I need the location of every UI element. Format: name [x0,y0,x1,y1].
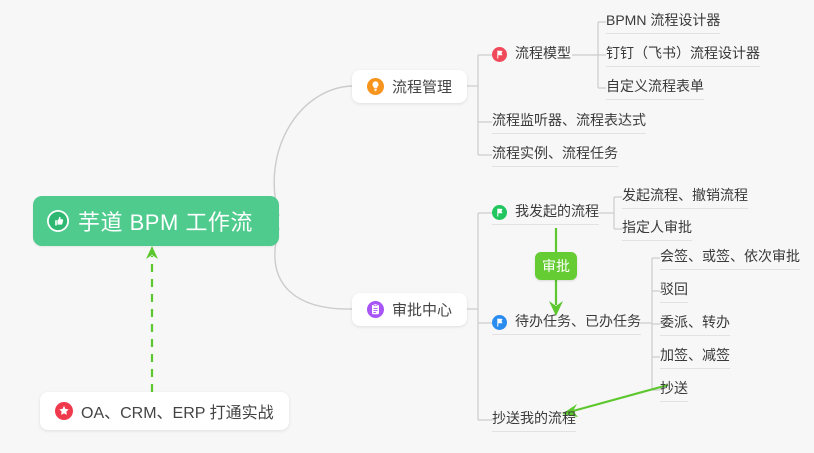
node-instance-task[interactable]: 流程实例、流程任务 [492,144,618,167]
approval-annotation-label: 审批 [542,256,570,276]
thumbs-up-icon [47,210,69,232]
label-start-cancel-process: 发起流程、撤销流程 [622,186,748,204]
lightbulb-icon [367,78,384,95]
root-node[interactable]: 芋道 BPM 工作流 [33,196,279,246]
node-delegate-transfer[interactable]: 委派、转办 [660,313,730,336]
label-delegate-transfer: 委派、转办 [660,313,730,331]
clipboard-icon [367,301,384,318]
branch-node-approval-center[interactable]: 审批中心 [352,293,467,326]
label-my-initiated: 我发起的流程 [515,202,599,220]
node-assignee-approval[interactable]: 指定人审批 [622,218,692,241]
node-reject[interactable]: 驳回 [660,280,688,303]
label-add-remove-sign: 加签、减签 [660,346,730,364]
bottom-note-card[interactable]: OA、CRM、ERP 打通实战 [40,392,289,430]
label-countersign: 会签、或签、依次审批 [660,247,800,265]
dashed-arrow-bottom-note-to-root [146,246,158,392]
arrow-cc-to-cc-my-process [562,385,668,417]
node-custom-process-form[interactable]: 自定义流程表单 [606,77,704,100]
label-assignee-approval: 指定人审批 [622,218,692,236]
label-reject: 驳回 [660,280,688,298]
node-countersign[interactable]: 会签、或签、依次审批 [660,247,800,270]
flag-icon [492,205,507,220]
flag-icon [492,47,507,62]
root-label: 芋道 BPM 工作流 [78,205,253,237]
label-todo-done-tasks: 待办任务、已办任务 [515,312,641,330]
label-dingtalk-feishu-designer: 钉钉（飞书）流程设计器 [606,44,760,62]
star-icon [55,402,73,420]
link-root-to-approval-center [275,228,352,309]
link-root-to-process-management [274,86,352,216]
label-carbon-copy: 抄送 [660,379,688,397]
label-bpmn-designer: BPMN 流程设计器 [606,11,720,29]
node-listener-expression[interactable]: 流程监听器、流程表达式 [492,111,646,134]
branch-label-approval-center: 审批中心 [392,299,452,320]
label-cc-my-process: 抄送我的流程 [492,409,576,427]
node-add-remove-sign[interactable]: 加签、减签 [660,346,730,369]
branch-label-process-management: 流程管理 [392,76,452,97]
node-cc-my-process[interactable]: 抄送我的流程 [492,409,576,432]
node-my-initiated[interactable]: 我发起的流程 [492,202,599,225]
node-todo-done-tasks[interactable]: 待办任务、已办任务 [492,312,641,335]
label-custom-process-form: 自定义流程表单 [606,77,704,95]
branch-node-process-management[interactable]: 流程管理 [352,70,467,103]
label-instance-task: 流程实例、流程任务 [492,144,618,162]
node-process-model[interactable]: 流程模型 [492,44,571,66]
flag-icon [492,315,507,330]
approval-annotation-chip[interactable]: 审批 [535,252,577,280]
bottom-note-label: OA、CRM、ERP 打通实战 [81,399,274,423]
mindmap-canvas: 芋道 BPM 工作流 流程管理 流程模型 BPMN 流程设计器 钉钉（飞书）流程… [0,0,814,453]
node-bpmn-designer[interactable]: BPMN 流程设计器 [606,11,720,34]
label-listener-expression: 流程监听器、流程表达式 [492,111,646,129]
node-dingtalk-feishu-designer[interactable]: 钉钉（飞书）流程设计器 [606,44,760,67]
node-carbon-copy[interactable]: 抄送 [660,379,688,402]
label-process-model: 流程模型 [515,44,571,62]
node-start-cancel-process[interactable]: 发起流程、撤销流程 [622,186,748,209]
